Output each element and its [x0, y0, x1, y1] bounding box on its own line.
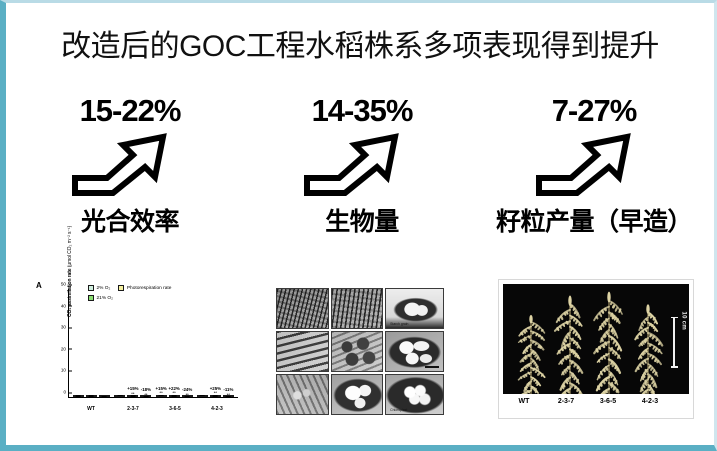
figure-row: A 2% O₂ Photorespiration rate 21% O₂ [6, 275, 714, 425]
bar-wrap [99, 395, 110, 397]
micro-inner-label: Chloroplast [390, 408, 407, 412]
panicle-label: 3-6-5 [587, 398, 629, 405]
bar-wrap [73, 395, 84, 397]
panicle-label: WT [503, 398, 545, 405]
bar-annotation: -24%** [182, 388, 192, 397]
bar-annotation: +22%** [168, 387, 179, 396]
scale-bar-label: 10 cm [681, 312, 687, 331]
panicle-label: 4-2-3 [629, 398, 671, 405]
stat-biomass: 14-35% 生物量 [247, 95, 477, 238]
bar-wrap: +15%** [127, 395, 138, 397]
bar-annotation: +25%** [210, 387, 221, 396]
stat-label: 籽粒产量（早造） [496, 202, 692, 238]
stat-row: 15-22% 光合效率 14-35% 生物量 7-27% [14, 95, 710, 245]
photo-area: 10 cm [503, 284, 689, 394]
bar-wrap [86, 395, 97, 397]
bar-groups: +15%**-18%**+15%**+22%**-24%**+25%**-11%… [71, 289, 236, 397]
micrograph-cell: Chloroplast [385, 374, 444, 415]
stat-photosynthesis: 15-22% 光合效率 [15, 95, 245, 238]
stat-grain-yield: 7-27% 籽粒产量（早造） [479, 95, 709, 238]
micro-inner-label: Starch grain [390, 322, 408, 326]
legend-swatch-icon [88, 295, 94, 301]
y-tick: 0 [63, 390, 69, 395]
micrograph-cell: Starch grain [385, 288, 444, 329]
up-trend-arrow-icon [303, 130, 421, 200]
bar-wrap: -11%** [223, 395, 234, 397]
legend-label: 2% O₂ [97, 286, 111, 291]
bar-annotation: +15%** [155, 387, 166, 396]
x-tick-label: 3-6-5 [154, 406, 196, 412]
micrograph-cell [331, 374, 384, 415]
micro-scale-bar [425, 366, 439, 368]
panicle-label: 2-3-7 [545, 398, 587, 405]
y-tick: 20 [61, 346, 69, 351]
legend-item-1: 21% O₂ [88, 295, 113, 301]
micrograph-cell [276, 331, 329, 372]
micrograph-panel: WT 3-6-5 Starch grain Chloroplast [274, 279, 446, 417]
bar-wrap: -24%** [182, 395, 193, 397]
bar-wrap: +15%** [156, 395, 167, 397]
rice-panicle [631, 301, 665, 394]
panel-letter: A [36, 281, 42, 290]
stat-label: 生物量 [325, 202, 399, 238]
rice-panicle [592, 288, 626, 394]
y-tick: 40 [61, 303, 69, 308]
micrograph-cell [385, 331, 444, 372]
x-tick-label: 2-3-7 [112, 406, 154, 412]
bar-group: +25%**-11%** [195, 289, 236, 397]
legend-label: Photorespiration rate [127, 286, 172, 291]
bar-annotation: -18%** [141, 388, 151, 397]
legend-swatch-icon [88, 285, 94, 291]
page-title: 改造后的GOC工程水稻株系多项表现得到提升 [6, 21, 714, 65]
bar-wrap [197, 395, 208, 397]
chart-plot-area: CO₂ assimilation rate (μmol CO₂ m⁻² s⁻¹)… [68, 289, 238, 398]
legend-swatch-icon [118, 285, 124, 291]
scale-bar [673, 317, 675, 368]
y-tick: 30 [61, 325, 69, 330]
bar-wrap: +25%** [210, 395, 221, 397]
legend-item-0: 2% O₂ [88, 285, 110, 291]
bar-wrap [114, 395, 125, 397]
bar-group [71, 289, 112, 397]
legend-item-2: Photorespiration rate [118, 285, 171, 291]
stat-percent: 7-27% [552, 95, 637, 128]
chart-legend: 2% O₂ Photorespiration rate 21% O₂ [88, 285, 238, 301]
up-trend-arrow-icon [71, 130, 189, 200]
micrograph-cell [276, 288, 329, 329]
bar-annotation: -11%** [223, 388, 233, 397]
x-tick-label: 4-2-3 [196, 406, 238, 412]
bar-wrap: -18%** [140, 395, 151, 397]
rice-panicle [553, 292, 587, 394]
rice-panicle [514, 312, 548, 394]
bar-annotation: +15%** [127, 387, 138, 396]
up-trend-arrow-icon [535, 130, 653, 200]
micrograph-cell [276, 374, 329, 415]
x-axis-ticks: WT2-3-73-6-54-2-3 [70, 406, 238, 412]
x-tick-label: WT [70, 406, 112, 412]
y-tick: 10 [61, 368, 69, 373]
stat-percent: 15-22% [80, 95, 181, 128]
micrograph-cell [331, 288, 384, 329]
stat-label: 光合效率 [81, 202, 179, 238]
poster-card: 改造后的GOC工程水稻株系多项表现得到提升 15-22% 光合效率 14-35%… [0, 0, 717, 451]
y-tick: 50 [61, 282, 69, 287]
panicle-labels: WT2-3-73-6-54-2-3 [503, 398, 671, 405]
stat-percent: 14-35% [312, 95, 413, 128]
bar-wrap: +22%** [169, 395, 180, 397]
panicle-photo: 10 cm WT2-3-73-6-54-2-3 [498, 279, 694, 419]
assimilation-bar-chart: A 2% O₂ Photorespiration rate 21% O₂ [24, 277, 242, 420]
bar-group: +15%**-18%** [112, 289, 153, 397]
micrograph-cell [331, 331, 384, 372]
legend-label: 21% O₂ [97, 296, 114, 301]
micrograph-grid: Starch grain Chloroplast [274, 279, 446, 417]
bar-group: +15%**+22%**-24%** [154, 289, 195, 397]
